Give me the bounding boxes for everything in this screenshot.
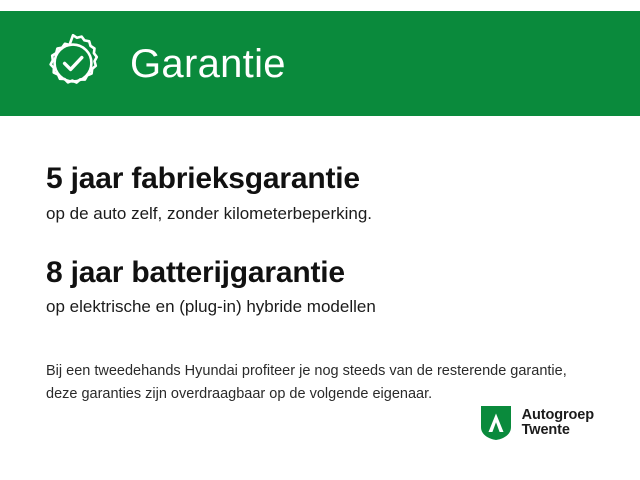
- warranty-headline-battery: 8 jaar batterijgarantie: [46, 256, 594, 291]
- warranty-block-factory: 5 jaar fabrieksgarantie op de auto zelf,…: [46, 116, 594, 224]
- warranty-headline-factory: 5 jaar fabrieksgarantie: [46, 162, 594, 197]
- autogroep-twente-shield-icon: [479, 404, 513, 442]
- logo-line-autogroep: Autogroep: [522, 408, 594, 423]
- warranty-block-battery: 8 jaar batterijgarantie op elektrische e…: [46, 224, 594, 318]
- logo-line-twente: Twente: [522, 423, 594, 438]
- warranty-note: Bij een tweedehands Hyundai profiteer je…: [46, 360, 594, 408]
- check-badge-icon: [40, 31, 106, 97]
- warranty-subline-battery: op elektrische en (plug-in) hybride mode…: [46, 296, 594, 317]
- autogroep-twente-logo: Autogroep Twente: [479, 404, 594, 442]
- warranty-banner: Garantie: [0, 11, 640, 116]
- warranty-subline-factory: op de auto zelf, zonder kilometerbeperki…: [46, 203, 594, 224]
- banner-title: Garantie: [130, 44, 286, 84]
- logo-wordmark: Autogroep Twente: [522, 408, 594, 438]
- warranty-card: Garantie 5 jaar fabrieksgarantie op de a…: [0, 0, 640, 480]
